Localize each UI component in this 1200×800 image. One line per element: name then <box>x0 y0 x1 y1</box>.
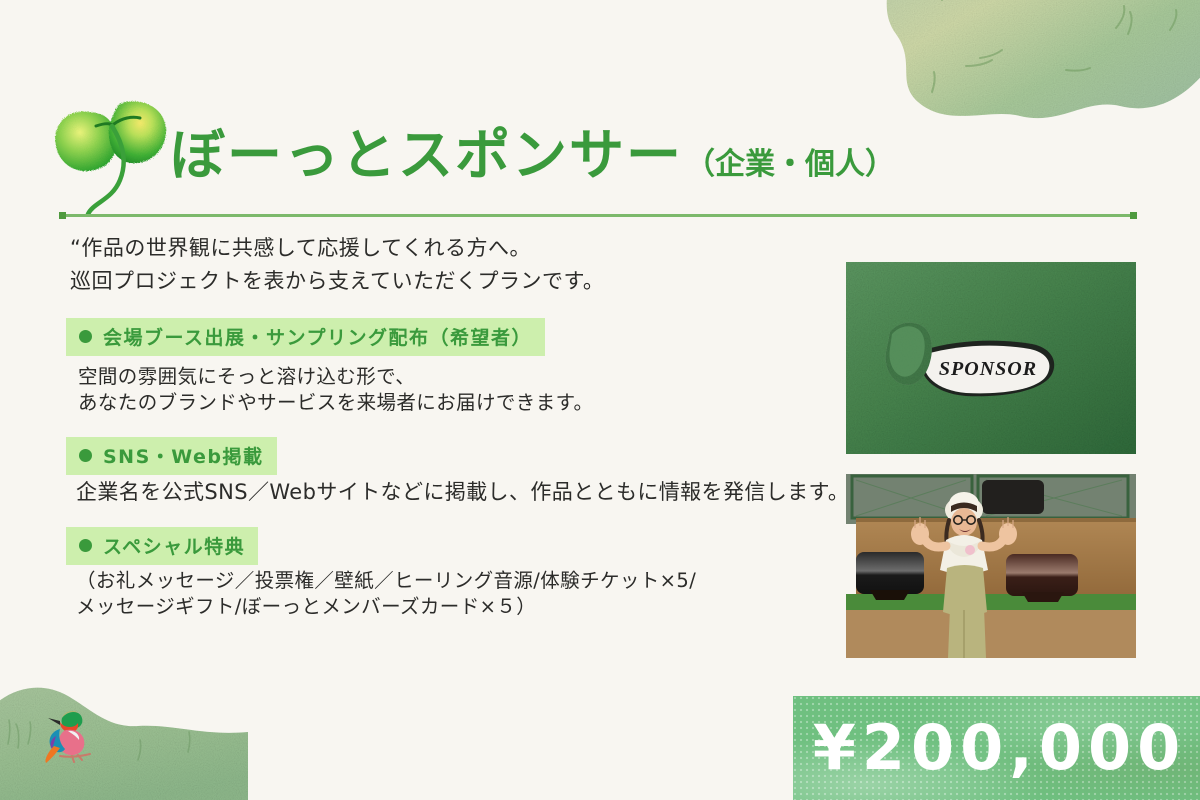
bullet-dot-icon <box>79 539 92 552</box>
svg-text:SPONSOR: SPONSOR <box>939 358 1037 380</box>
clover-leaf-icon <box>48 96 174 218</box>
section-badge-sns-label: SNS・Web掲載 <box>103 442 264 469</box>
section-badge-booth: 会場ブース出展・サンプリング配布（希望者） <box>66 318 545 356</box>
price-banner: ¥200,000 <box>793 696 1200 800</box>
bullet-dot-icon <box>79 449 92 462</box>
event-person-photo <box>846 474 1136 658</box>
sponsor-torn-paper-photo: SPONSOR <box>846 262 1136 454</box>
section-badge-sns: SNS・Web掲載 <box>66 437 277 475</box>
section-body-special-line-2: メッセージギフト/ぼーっとメンバーズカード×５） <box>76 594 696 620</box>
lead-line-2: 巡回プロジェクトを表から支えていただくプランです。 <box>70 265 604 298</box>
section-badge-booth-label: 会場ブース出展・サンプリング配布（希望者） <box>103 323 532 350</box>
title-sub-text: （企業・個人） <box>685 150 895 180</box>
lead-paragraph: “作品の世界観に共感して応援してくれる方へ。 巡回プロジェクトを表から支えていた… <box>70 232 604 298</box>
title-main-text: ぼーっとスポンサー <box>170 128 683 183</box>
bullet-dot-icon <box>79 330 92 343</box>
title-divider <box>62 214 1134 217</box>
section-badge-special-label: スペシャル特典 <box>103 532 245 559</box>
section-body-sns-line-1: 企業名を公式SNS／Webサイトなどに掲載し、作品とともに情報を発信します。 <box>76 478 849 506</box>
section-badge-special: スペシャル特典 <box>66 527 258 565</box>
sponsor-plan-slide: ぼーっとスポンサー （企業・個人） “作品の世界観に共感して応援してくれる方へ。… <box>0 0 1200 800</box>
section-body-booth-line-2: あなたのブランドやサービスを来場者にお届けできます。 <box>78 390 593 416</box>
section-body-booth-line-1: 空間の雰囲気にそっと溶け込む形で、 <box>78 364 593 390</box>
watercolor-bird-icon <box>38 698 100 764</box>
section-body-special: （お礼メッセージ／投票権／壁紙／ヒーリング音源/体験チケット×5/ メッセージギ… <box>76 568 696 620</box>
watercolor-green-blob <box>870 0 1200 130</box>
section-body-sns: 企業名を公式SNS／Webサイトなどに掲載し、作品とともに情報を発信します。 <box>76 478 849 506</box>
page-title: ぼーっとスポンサー （企業・個人） <box>170 128 895 183</box>
lead-line-1: “作品の世界観に共感して応援してくれる方へ。 <box>70 232 604 265</box>
watercolor-green-hill <box>0 656 248 800</box>
section-body-special-line-1: （お礼メッセージ／投票権／壁紙／ヒーリング音源/体験チケット×5/ <box>76 568 696 594</box>
section-body-booth: 空間の雰囲気にそっと溶け込む形で、 あなたのブランドやサービスを来場者にお届けで… <box>78 364 593 416</box>
price-amount: ¥200,000 <box>807 717 1187 779</box>
